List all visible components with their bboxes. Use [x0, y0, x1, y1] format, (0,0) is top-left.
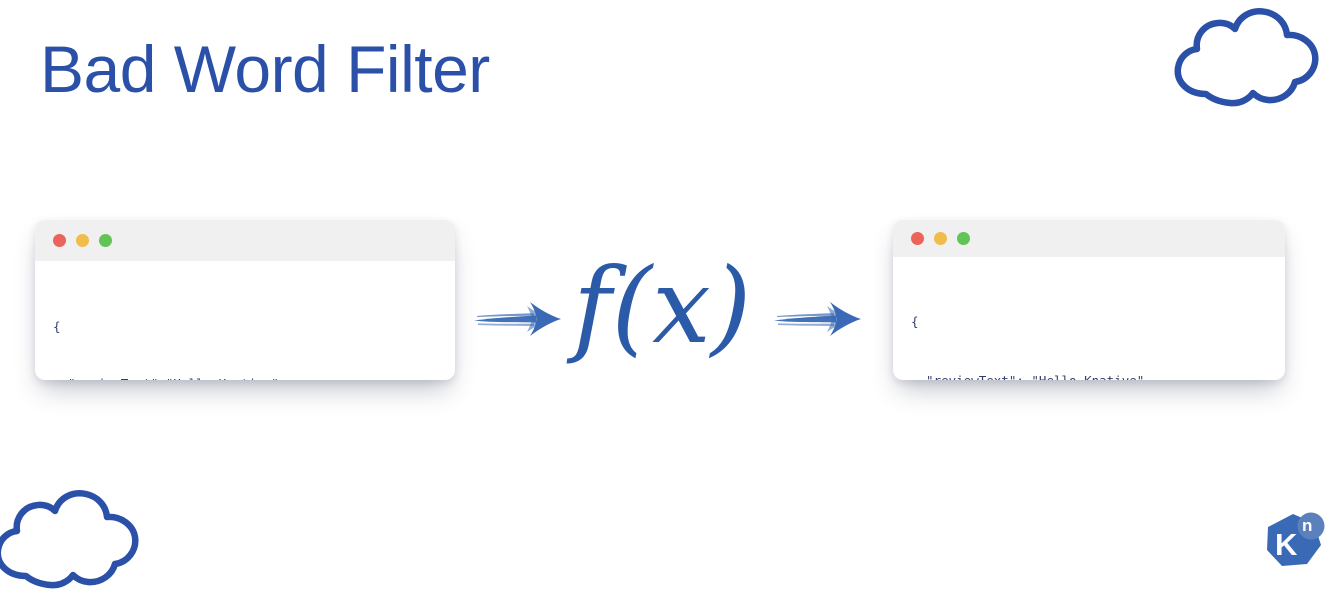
page-title: Bad Word Filter — [40, 33, 490, 106]
cloud-top-right-icon — [1168, 6, 1328, 119]
code-line: "reviewText":"Hello Knative" — [53, 374, 455, 380]
maximize-button-dot[interactable] — [957, 232, 970, 245]
transform-function-label: f(x) — [573, 254, 751, 358]
output-code-window: { "reviewText": "Hello Knative", "badWor… — [893, 220, 1285, 380]
knative-n-letter: n — [1302, 517, 1312, 534]
maximize-button-dot[interactable] — [99, 234, 112, 247]
input-code-window: { "reviewText":"Hello Knative" } — [35, 220, 455, 380]
minimize-button-dot[interactable] — [76, 234, 89, 247]
code-line: "reviewText": "Hello Knative", — [911, 371, 1285, 381]
close-button-dot[interactable] — [911, 232, 924, 245]
close-button-dot[interactable] — [53, 234, 66, 247]
minimize-button-dot[interactable] — [934, 232, 947, 245]
knative-logo: K n — [1262, 512, 1328, 578]
code-line: { — [911, 312, 1285, 332]
flow-arrow-right-icon — [772, 296, 864, 347]
knative-k-letter: K — [1275, 529, 1296, 560]
code-line: { — [53, 317, 455, 336]
flow-arrow-left-icon — [472, 296, 564, 347]
output-code-body: { "reviewText": "Hello Knative", "badWor… — [893, 257, 1285, 380]
input-code-body: { "reviewText":"Hello Knative" } — [35, 261, 455, 380]
cloud-bottom-left-icon — [0, 486, 148, 601]
input-window-titlebar — [35, 220, 455, 261]
output-window-titlebar — [893, 220, 1285, 257]
